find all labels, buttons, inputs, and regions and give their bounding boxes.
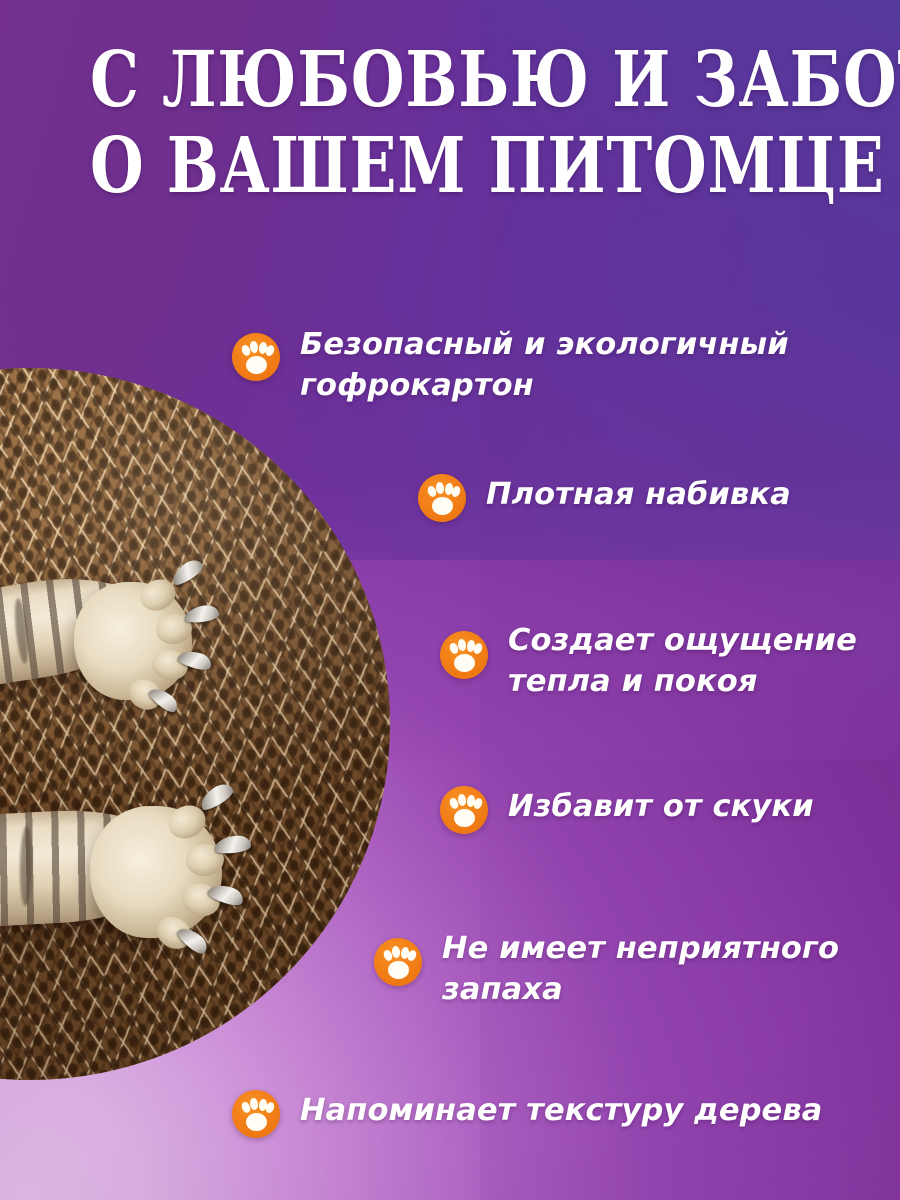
feature-label: Избавит от скуки — [508, 786, 814, 827]
feature-list: Безопасный и экологичный гофрокартон Пло… — [0, 0, 900, 1200]
paw-icon — [232, 1090, 280, 1138]
paw-icon — [232, 333, 280, 381]
paw-icon — [440, 631, 488, 679]
feature-label: Напоминает текстуру дерева — [300, 1090, 822, 1131]
paw-icon — [418, 474, 466, 522]
promo-poster: С ЛЮБОВЬЮ И ЗАБОТОЙ О ВАШЕМ ПИТОМЦЕ — [0, 0, 900, 1200]
paw-icon — [374, 938, 422, 986]
list-item: Создает ощущение тепла и покоя — [440, 620, 890, 702]
list-item: Безопасный и экологичный гофрокартон — [232, 324, 892, 406]
list-item: Плотная набивка — [418, 474, 888, 522]
feature-label: Безопасный и экологичный гофрокартон — [300, 324, 892, 406]
feature-label: Создает ощущение тепла и покоя — [508, 620, 890, 702]
paw-icon — [440, 786, 488, 834]
feature-label: Не имеет неприятного запаха — [442, 928, 894, 1010]
list-item: Не имеет неприятного запаха — [374, 928, 894, 1010]
feature-label: Плотная набивка — [486, 474, 791, 515]
list-item: Напоминает текстуру дерева — [232, 1090, 892, 1138]
list-item: Избавит от скуки — [440, 786, 890, 834]
